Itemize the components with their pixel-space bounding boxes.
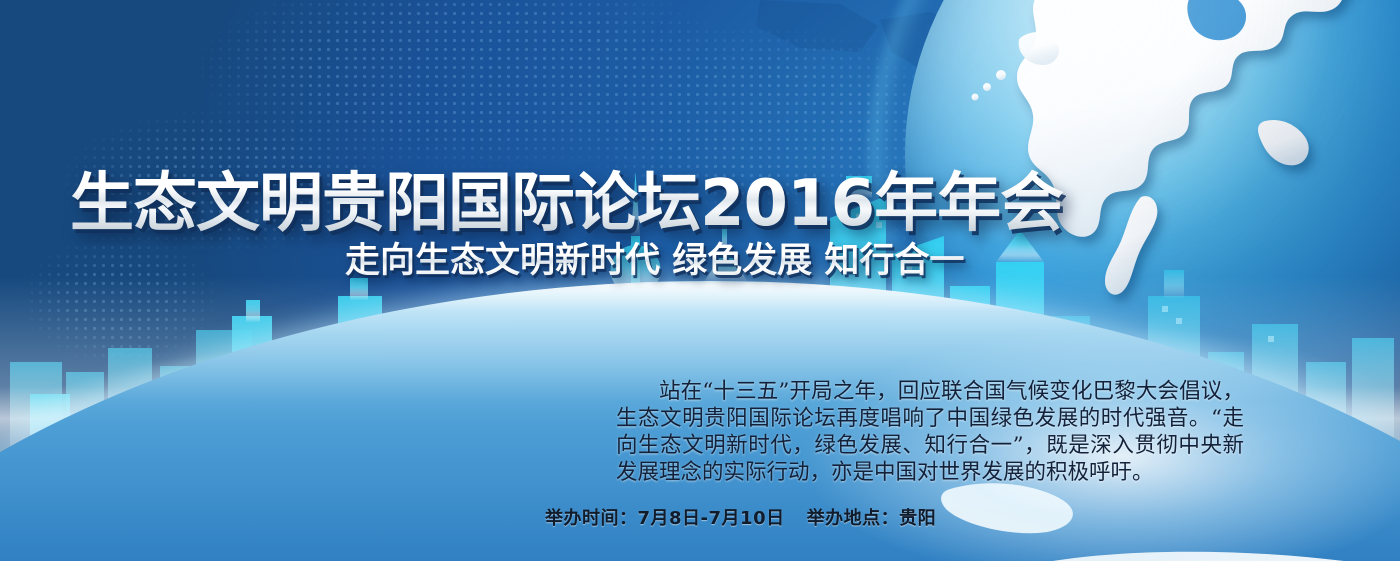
event-time-value: 7月8日-7月10日 [638,508,785,529]
intro-paragraph: 站在“十三五”开局之年，回应联合国气候变化巴黎大会倡议，生态文明贵阳国际论坛再度… [616,378,1244,486]
event-place-value: 贵阳 [899,508,936,529]
event-banner: 生态文明贵阳国际论坛2016年年会 走向生态文明新时代 绿色发展 知行合一 站在… [0,0,1400,561]
event-time-label: 举办时间： [545,508,638,529]
event-info: 举办时间：7月8日-7月10日举办地点：贵阳 [545,504,936,530]
event-place-label: 举办地点： [807,508,900,529]
page-subtitle: 走向生态文明新时代 绿色发展 知行合一 [345,232,964,283]
page-title: 生态文明贵阳国际论坛2016年年会 [70,152,1063,244]
